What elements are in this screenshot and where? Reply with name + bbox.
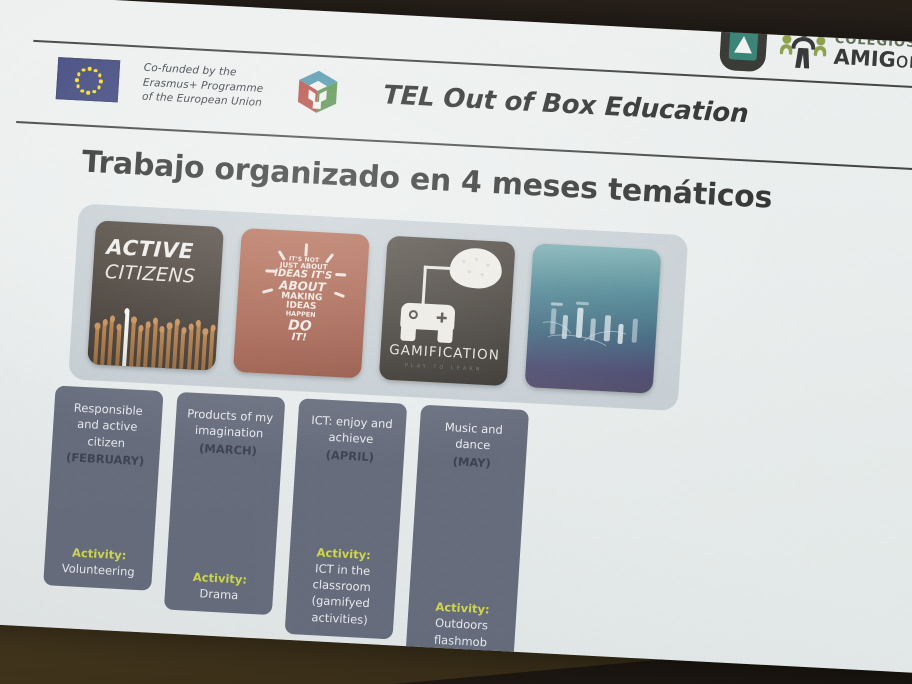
gamepad-icon [400, 302, 456, 331]
column-spacer [297, 461, 396, 548]
image-card-gamification: GAMIFICATION PLAY TO LEARN [379, 236, 516, 386]
partner-name-light: onianos [895, 48, 912, 76]
active-citizens-line2: CITIZENS [104, 261, 221, 289]
project-title: TEL Out of Box Education [382, 80, 749, 129]
image-card-ideas-lightbulb: IT'S NOT JUST ABOUT IDEAS IT'S ABOUT MAK… [233, 228, 370, 378]
column-spacer [416, 468, 518, 604]
column-title: Music and dance [425, 418, 521, 456]
month-columns: Responsible and active citizen (FEBRUARY… [40, 385, 695, 668]
column-title: Responsible and active citizen [59, 399, 156, 453]
column-activity-value: Volunteering [51, 559, 146, 580]
month-column-april[interactable]: ICT: enjoy and achieve (APRIL) Activity:… [285, 398, 408, 639]
column-title: ICT: enjoy and achieve [304, 412, 400, 450]
image-card-music-dance [525, 243, 662, 393]
partner-name: AMIGonianos [833, 47, 912, 76]
column-activity-value: Outdoors flashmob [413, 614, 509, 652]
brain-icon [449, 247, 503, 290]
eu-flag-icon [56, 57, 121, 102]
cable-graphic [421, 266, 426, 306]
partner-name-bold: AMIG [833, 45, 897, 72]
column-spacer [53, 465, 152, 549]
image-card-strip: ACTIVE CITIZENS IT'S NOT JUST ABOUT IDEA… [68, 203, 688, 411]
gamification-title: GAMIFICATION [380, 341, 509, 364]
gamification-subtitle: PLAY TO LEARN [379, 361, 507, 374]
image-card-active-citizens: ACTIVE CITIZENS [87, 220, 224, 370]
lightbulb-poster-text: IT'S NOT JUST ABOUT IDEAS IT'S ABOUT MAK… [235, 254, 368, 347]
month-column-march[interactable]: Products of my imagination (MARCH) Activ… [164, 392, 286, 615]
project-cube-icon [292, 67, 343, 117]
column-activity-value: ICT in the classroom (gamifyed activitie… [292, 559, 390, 629]
projected-slide: Co-funded by the Erasmus+ Programme of t… [0, 0, 912, 675]
eu-funding-caption: Co-funded by the Erasmus+ Programme of t… [142, 61, 265, 111]
column-title: Products of my imagination [182, 405, 278, 443]
active-citizens-line1: ACTIVE [106, 235, 223, 265]
month-column-may[interactable]: Music and dance (MAY) Activity: Outdoors… [405, 405, 529, 662]
column-spacer [173, 455, 274, 573]
month-column-february[interactable]: Responsible and active citizen (FEBRUARY… [43, 385, 163, 590]
matchsticks-graphic [91, 310, 218, 370]
